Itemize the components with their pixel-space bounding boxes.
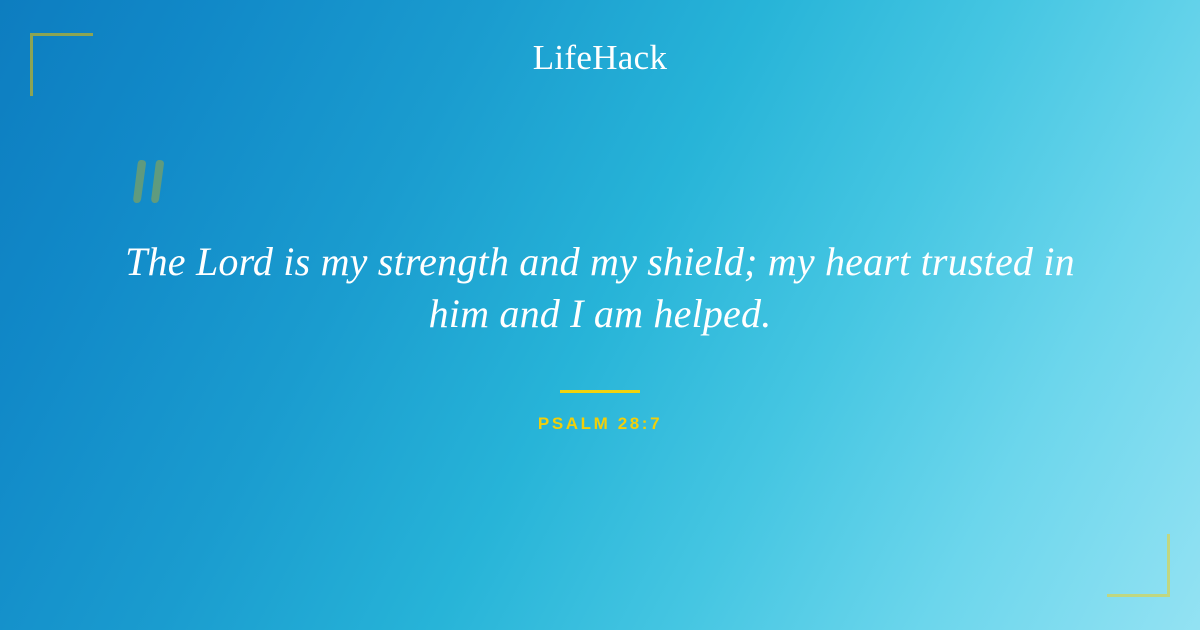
divider-wrapper: [0, 383, 1200, 401]
quote-card: LifeHack The Lord is my strength and my …: [0, 0, 1200, 630]
brand-name: LifeHack: [533, 40, 668, 75]
corner-bracket-bottom-right-icon: [1107, 534, 1170, 597]
quote-text: The Lord is my strength and my shield; m…: [100, 236, 1100, 340]
quote-attribution: PSALM 28:7: [538, 414, 662, 433]
attribution-wrapper: PSALM 28:7: [0, 414, 1200, 434]
brand-logo: LifeHack: [0, 40, 1200, 75]
quote-block: The Lord is my strength and my shield; m…: [0, 236, 1200, 340]
divider-rule: [560, 390, 640, 393]
quotation-mark-icon: [128, 158, 176, 220]
